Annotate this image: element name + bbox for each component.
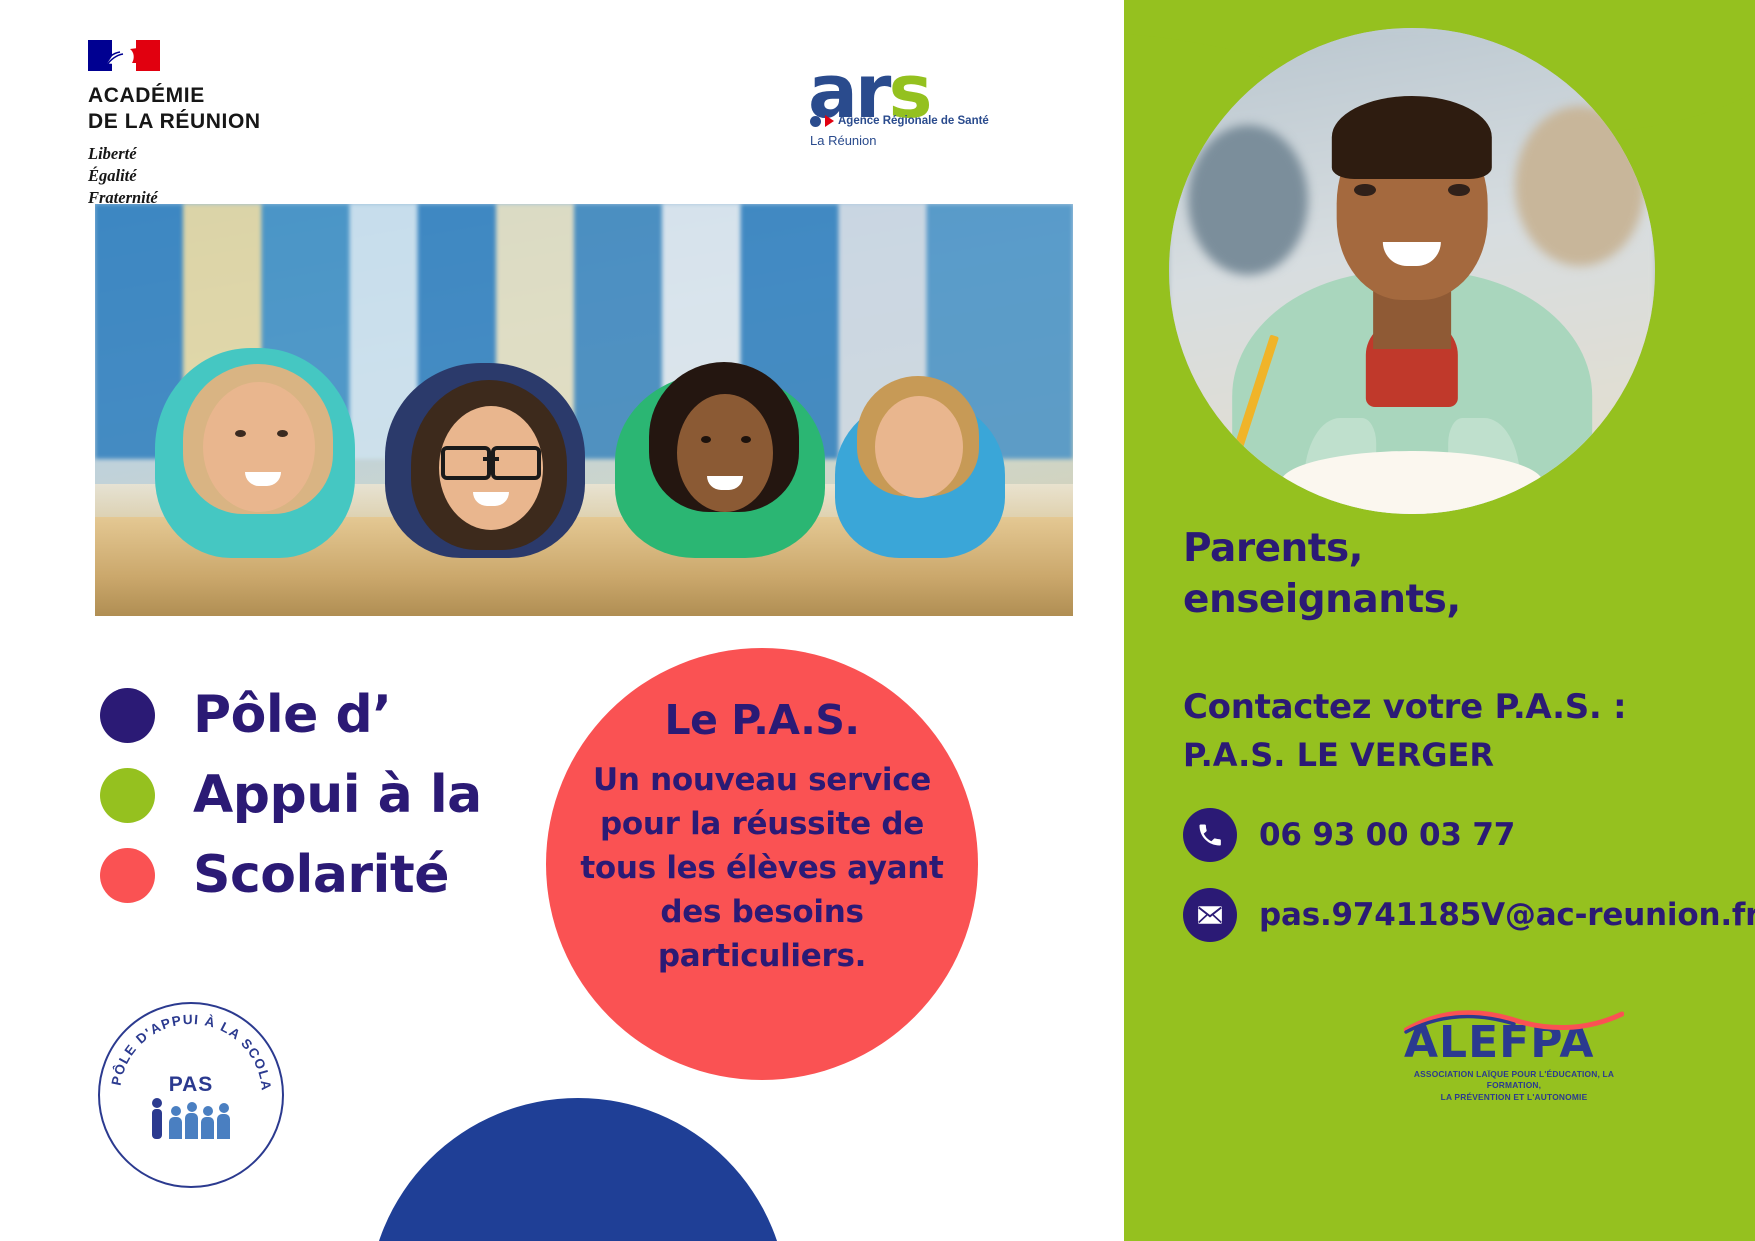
email-address[interactable]: pas.9741185V@ac-reunion.fr bbox=[1259, 897, 1755, 933]
open-book bbox=[1281, 451, 1543, 514]
audience-enseignants: enseignants, bbox=[1183, 574, 1663, 625]
marianne-profile-icon bbox=[102, 43, 146, 68]
child-head bbox=[203, 382, 315, 512]
pas-seal-logo: PÔLE D'APPUI À LA SCOLARITÉ PAS bbox=[98, 1002, 284, 1188]
classroom-photo bbox=[95, 204, 1073, 616]
ars-dot-icon bbox=[810, 116, 821, 127]
title-dot-coral-icon bbox=[100, 848, 155, 903]
contact-heading: Contactez votre P.A.S. : bbox=[1183, 687, 1626, 727]
alefpa-tagline: ASSOCIATION LAÏQUE POUR L'ÉDUCATION, LA … bbox=[1404, 1069, 1624, 1103]
phone-icon bbox=[1183, 808, 1237, 862]
poster-title: Pôle d’ Appui à la Scolarité bbox=[100, 676, 620, 916]
pas-seal-figures-icon bbox=[126, 1099, 256, 1139]
background-student-figure bbox=[1188, 125, 1308, 275]
pas-seal-inner: PAS bbox=[126, 1073, 256, 1139]
motto-egalite: Égalité bbox=[88, 165, 388, 187]
title-line-3: Scolarité bbox=[100, 836, 620, 914]
student-photo bbox=[1169, 28, 1655, 514]
academie-logo: ACADÉMIE DE LA RÉUNION Liberté Égalité F… bbox=[88, 40, 388, 209]
academie-motto: Liberté Égalité Fraternité bbox=[88, 143, 388, 208]
title-dot-green-icon bbox=[100, 768, 155, 823]
red-circle-body: Un nouveau service pour la réussite de t… bbox=[546, 758, 978, 978]
email-contact-row[interactable]: pas.9741185V@ac-reunion.fr bbox=[1183, 888, 1755, 942]
student-eye bbox=[1354, 184, 1376, 197]
academie-name-line1: ACADÉMIE bbox=[88, 83, 388, 109]
audience-block: Parents, enseignants, bbox=[1183, 523, 1663, 626]
pas-seal-label: PAS bbox=[126, 1073, 256, 1097]
red-circle-title: Le P.A.S. bbox=[665, 696, 860, 744]
ars-agency-text: Agence Régionale de Santé bbox=[838, 115, 989, 127]
decorative-blue-circle bbox=[368, 1098, 788, 1241]
poster-root: ACADÉMIE DE LA RÉUNION Liberté Égalité F… bbox=[0, 0, 1755, 1241]
envelope-icon bbox=[1183, 888, 1237, 942]
phone-number[interactable]: 06 93 00 03 77 bbox=[1259, 817, 1515, 853]
alefpa-logo: ALEFPA ASSOCIATION LAÏQUE POUR L'ÉDUCATI… bbox=[1404, 1021, 1624, 1103]
pas-name: P.A.S. LE VERGER bbox=[1183, 736, 1494, 774]
title-line-2: Appui à la bbox=[100, 756, 620, 834]
alefpa-tagline-line1: ASSOCIATION LAÏQUE POUR L'ÉDUCATION, LA … bbox=[1404, 1069, 1624, 1092]
alefpa-tagline-line2: LA PRÉVENTION ET L'AUTONOMIE bbox=[1404, 1092, 1624, 1103]
ars-arrow-icon bbox=[825, 115, 834, 127]
phone-contact-row[interactable]: 06 93 00 03 77 bbox=[1183, 808, 1515, 862]
student-hair bbox=[1332, 96, 1492, 179]
ars-region-text: La Réunion bbox=[810, 133, 877, 148]
academie-name-line2: DE LA RÉUNION bbox=[88, 109, 388, 135]
academie-name: ACADÉMIE DE LA RÉUNION bbox=[88, 83, 388, 134]
ars-logo: ars Agence Régionale de Santé La Réunion bbox=[808, 55, 988, 150]
child-head bbox=[677, 394, 773, 512]
alefpa-swoosh-icon bbox=[1404, 1008, 1624, 1034]
alefpa-wordmark: ALEFPA bbox=[1404, 1021, 1624, 1065]
title-text-scolarite: Scolarité bbox=[193, 849, 449, 901]
eyeglasses-icon bbox=[441, 446, 541, 472]
child-head bbox=[875, 396, 963, 498]
audience-parents: Parents, bbox=[1183, 523, 1663, 574]
title-text-appui: Appui à la bbox=[193, 769, 482, 821]
left-panel: ACADÉMIE DE LA RÉUNION Liberté Égalité F… bbox=[0, 0, 1124, 1241]
title-line-1: Pôle d’ bbox=[100, 676, 620, 754]
title-dot-navy-icon bbox=[100, 688, 155, 743]
motto-liberte: Liberté bbox=[88, 143, 388, 165]
french-flag-marianne-icon bbox=[88, 40, 160, 71]
title-text-pole: Pôle d’ bbox=[193, 689, 392, 741]
background-student-figure bbox=[1515, 106, 1645, 266]
red-circle-callout: Le P.A.S. Un nouveau service pour la réu… bbox=[546, 648, 978, 1080]
ars-subline: Agence Régionale de Santé bbox=[810, 115, 989, 127]
